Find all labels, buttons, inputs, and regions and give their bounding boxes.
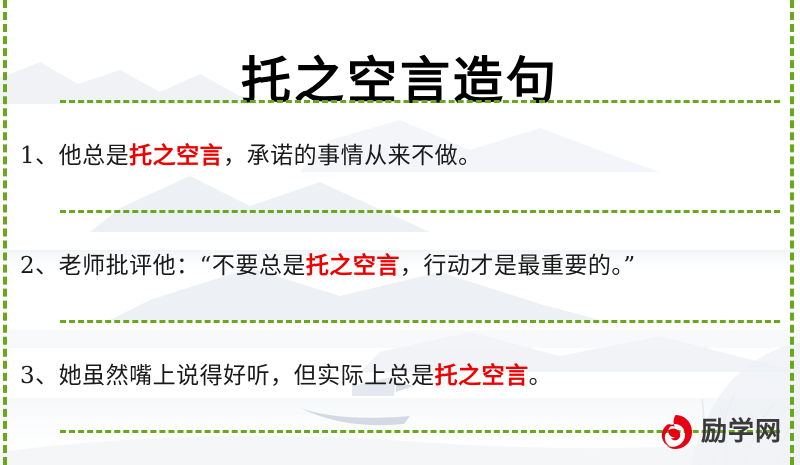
sentence-1-idiom: 托之空言	[129, 142, 223, 169]
sentence-3-number: 3、	[20, 363, 59, 389]
sentence-list: 1、他总是托之空言，承诺的事情从来不做。 2、老师批评他：“不要总是托之空言，行…	[16, 100, 784, 433]
page-root: 托之空言造句 1、他总是托之空言，承诺的事情从来不做。 2、老师批评他：“不要总…	[0, 0, 800, 465]
sentence-2-idiom: 托之空言	[306, 252, 400, 279]
sentence-1-number: 1、	[20, 143, 59, 169]
sentence-1-before: 他总是	[59, 143, 130, 169]
separator-2	[60, 320, 780, 323]
site-logo[interactable]: 励学网	[655, 412, 782, 452]
flame-swirl-icon	[655, 412, 695, 452]
separator-top	[60, 100, 780, 103]
separator-1	[60, 210, 780, 213]
sentence-1-after: ，承诺的事情从来不做。	[223, 143, 482, 169]
sentence-3-before: 她虽然嘴上说得好听，但实际上总是	[59, 363, 435, 389]
sentence-item-3: 3、她虽然嘴上说得好听，但实际上总是托之空言。	[16, 346, 784, 407]
site-logo-brand: 励学网	[701, 417, 782, 447]
sentence-3-after: 。	[529, 363, 553, 389]
sentence-item-1: 1、他总是托之空言，承诺的事情从来不做。	[16, 126, 784, 187]
sentence-2-number: 2、	[20, 253, 59, 279]
sentence-item-2: 2、老师批评他：“不要总是托之空言，行动才是最重要的。”	[16, 236, 784, 297]
sentence-3-idiom: 托之空言	[435, 362, 529, 389]
sentence-2-after: ，行动才是最重要的。”	[400, 253, 636, 279]
sentence-2-before: 老师批评他：“不要总是	[59, 253, 306, 279]
